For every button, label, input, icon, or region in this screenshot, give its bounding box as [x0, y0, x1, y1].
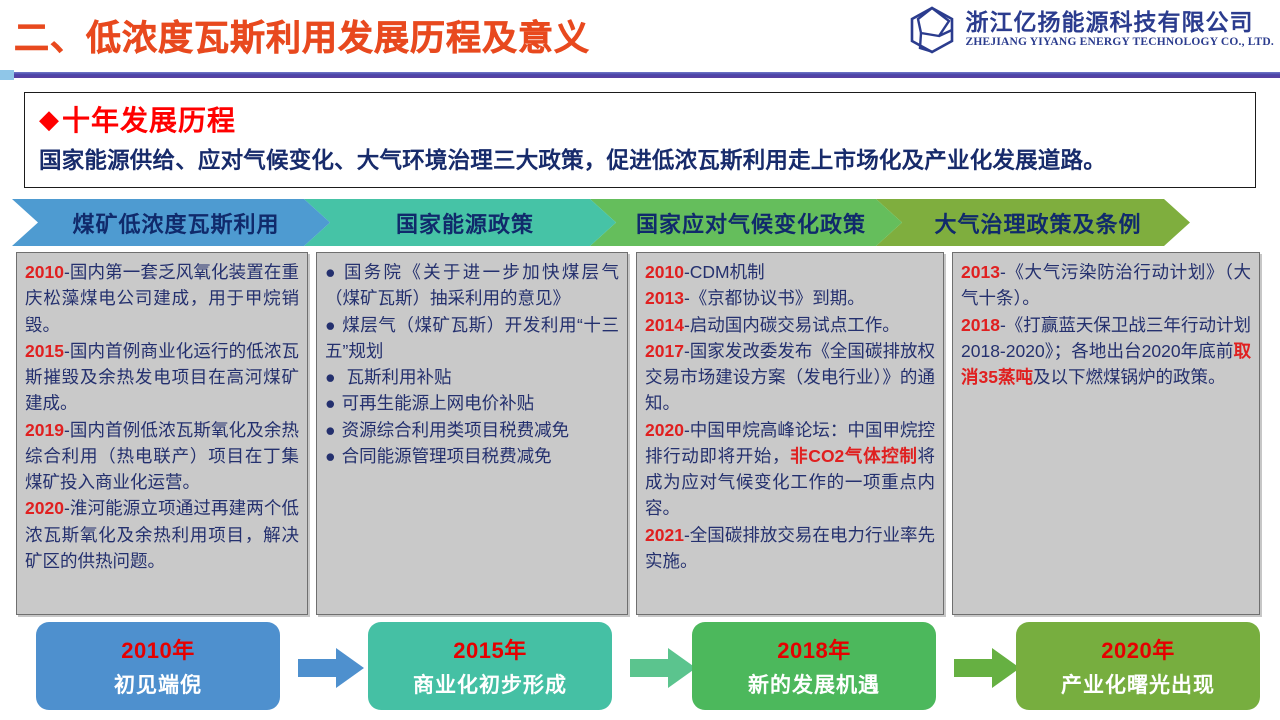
- item-year: 2010: [645, 262, 684, 282]
- intro-heading: ◆ 十年发展历程: [39, 99, 236, 139]
- timeline-box-1[interactable]: 2010年初见端倪: [36, 622, 280, 710]
- panel-item: 2018-《打赢蓝天保卫战三年行动计划2018-2020》；各地出台2020年底…: [961, 312, 1251, 391]
- panel-item: ●可再生能源上网电价补贴: [325, 390, 619, 416]
- panel-item: 2021-全国碳排放交易在电力行业率先实施。: [645, 522, 935, 575]
- item-text: -国家发改委发布《全国碳排放权交易市场建设方案（发电行业）》的通知。: [645, 341, 935, 414]
- chevron-step-1[interactable]: 煤矿低浓度瓦斯利用: [12, 199, 330, 246]
- item-year: 2013: [645, 288, 684, 308]
- chevron-label: 煤矿低浓度瓦斯利用: [62, 207, 279, 239]
- bullet-icon: ●: [325, 390, 342, 416]
- panel-climate-change-policy: 2010-CDM机制2013-《京都协议书》到期。2014-启动国内碳交易试点工…: [636, 252, 944, 615]
- chevron-label: 国家应对气候变化政策: [626, 207, 866, 239]
- company-name-cn: 浙江亿扬能源科技有限公司: [965, 10, 1274, 35]
- chevron-step-4[interactable]: 大气治理政策及条例: [876, 199, 1190, 246]
- content-panels: 2010-国内第一套乏风氧化装置在重庆松藻煤电公司建成，用于甲烷销毁。2015-…: [16, 252, 1264, 615]
- intro-subtitle: 国家能源供给、应对气候变化、大气环境治理三大政策，促进低浓瓦斯利用走上市场化及产…: [39, 143, 1106, 175]
- chevron-label: 国家能源政策: [386, 207, 534, 239]
- item-year: 2013: [961, 262, 1000, 282]
- item-text: -全国碳排放交易在电力行业率先实施。: [645, 525, 935, 571]
- item-text: -CDM机制: [684, 262, 765, 282]
- hexagon-cube-logo-icon: [909, 6, 955, 54]
- bullet-icon: ●: [325, 259, 342, 285]
- item-text: 煤层气（煤矿瓦斯）开发利用“十三五”规划: [325, 315, 619, 361]
- bullet-icon: ●: [325, 364, 342, 390]
- intro-box: ◆ 十年发展历程 国家能源供给、应对气候变化、大气环境治理三大政策，促进低浓瓦斯…: [24, 92, 1256, 188]
- timeline-year: 2010年: [121, 633, 194, 665]
- timeline-label: 新的发展机遇: [748, 669, 880, 699]
- panel-item: 2020-淮河能源立项通过再建两个低浓瓦斯氧化及余热利用项目，解决矿区的供热问题…: [25, 495, 299, 574]
- item-text: -国内第一套乏风氧化装置在重庆松藻煤电公司建成，用于甲烷销毁。: [25, 262, 299, 335]
- bullet-icon: ●: [325, 443, 342, 469]
- panel-item: 2010-国内第一套乏风氧化装置在重庆松藻煤电公司建成，用于甲烷销毁。: [25, 259, 299, 338]
- panel-national-energy-policy: ●国务院《关于进一步加快煤层气（煤矿瓦斯）抽采利用的意见》●煤层气（煤矿瓦斯）开…: [316, 252, 628, 615]
- chevron-category-bar: 煤矿低浓度瓦斯利用国家能源政策国家应对气候变化政策大气治理政策及条例: [12, 199, 1268, 246]
- timeline-label: 产业化曙光出现: [1061, 669, 1215, 699]
- item-text: -《大气污染防治行动计划》（大气十条）。: [961, 262, 1251, 308]
- company-name-en: ZHEJIANG YIYANG ENERGY TECHNOLOGY CO., L…: [965, 35, 1274, 50]
- panel-coal-mine-low-concentration-gas: 2010-国内第一套乏风氧化装置在重庆松藻煤电公司建成，用于甲烷销毁。2015-…: [16, 252, 308, 615]
- timeline-year: 2015年: [453, 633, 526, 665]
- panel-item: 2014-启动国内碳交易试点工作。: [645, 312, 935, 338]
- chevron-label: 大气治理政策及条例: [924, 207, 1141, 239]
- item-text: 可再生能源上网电价补贴: [342, 393, 535, 413]
- panel-item: ●国务院《关于进一步加快煤层气（煤矿瓦斯）抽采利用的意见》: [325, 259, 619, 312]
- page-title: 二、低浓度瓦斯利用发展历程及意义: [14, 10, 590, 61]
- panel-item: 2015-国内首例商业化运行的低浓瓦斯摧毁及余热发电项目在高河煤矿建成。: [25, 338, 299, 417]
- timeline-year: 2018年: [777, 633, 850, 665]
- timeline-box-4[interactable]: 2020年产业化曙光出现: [1016, 622, 1260, 710]
- logo-text-block: 浙江亿扬能源科技有限公司 ZHEJIANG YIYANG ENERGY TECH…: [965, 10, 1274, 50]
- item-year: 2019: [25, 420, 64, 440]
- panel-item: 2019-国内首例低浓瓦斯氧化及余热综合利用（热电联产）项目在丁集煤矿投入商业化…: [25, 417, 299, 496]
- timeline-year: 2020年: [1101, 633, 1174, 665]
- item-year: 2020: [25, 498, 64, 518]
- panel-item: 2013-《大气污染防治行动计划》（大气十条）。: [961, 259, 1251, 312]
- panel-air-treatment-policy: 2013-《大气污染防治行动计划》（大气十条）。2018-《打赢蓝天保卫战三年行…: [952, 252, 1260, 615]
- item-year: 2017: [645, 341, 684, 361]
- item-text: 资源综合利用类项目税费减免: [342, 420, 570, 440]
- item-year: 2015: [25, 341, 64, 361]
- diamond-bullet-icon: ◆: [39, 106, 60, 132]
- bullet-icon: ●: [325, 312, 342, 338]
- item-text: -启动国内碳交易试点工作。: [684, 315, 900, 335]
- item-year: 2010: [25, 262, 64, 282]
- item-text: -国内首例商业化运行的低浓瓦斯摧毁及余热发电项目在高河煤矿建成。: [25, 341, 299, 414]
- timeline-label: 初见端倪: [114, 669, 202, 699]
- panel-item: ●资源综合利用类项目税费减免: [325, 417, 619, 443]
- item-text: -淮河能源立项通过再建两个低浓瓦斯氧化及余热利用项目，解决矿区的供热问题。: [25, 498, 299, 571]
- slide-header: 二、低浓度瓦斯利用发展历程及意义 浙江亿扬能源科技有限公司 ZHEJIANG Y…: [0, 0, 1280, 74]
- timeline-box-2[interactable]: 2015年商业化初步形成: [368, 622, 612, 710]
- panel-item: ●煤层气（煤矿瓦斯）开发利用“十三五”规划: [325, 312, 619, 365]
- panel-item: 2013-《京都协议书》到期。: [645, 285, 935, 311]
- item-text: -国内首例低浓瓦斯氧化及余热综合利用（热电联产）项目在丁集煤矿投入商业化运营。: [25, 420, 299, 493]
- panel-item: 2017-国家发改委发布《全国碳排放权交易市场建设方案（发电行业）》的通知。: [645, 338, 935, 417]
- item-year: 2014: [645, 315, 684, 335]
- timeline-arrow-3-icon: [954, 648, 1020, 688]
- item-text: 国务院《关于进一步加快煤层气（煤矿瓦斯）抽采利用的意见》: [325, 262, 619, 308]
- intro-heading-label: 十年发展历程: [62, 99, 236, 139]
- chevron-step-3[interactable]: 国家应对气候变化政策: [590, 199, 902, 246]
- panel-item: ● 瓦斯利用补贴: [325, 364, 619, 390]
- title-divider-cap: [0, 70, 14, 80]
- item-year: 2018: [961, 315, 1000, 335]
- timeline-arrow-2-icon: [630, 648, 696, 688]
- item-text-after: 及以下燃煤锅炉的政策。: [1033, 367, 1226, 387]
- item-year: 2021: [645, 525, 684, 545]
- panel-item: 2020-中国甲烷高峰论坛：中国甲烷控排行动即将开始，非CO2气体控制将成为应对…: [645, 417, 935, 522]
- chevron-step-2[interactable]: 国家能源政策: [304, 199, 616, 246]
- timeline-label: 商业化初步形成: [413, 669, 567, 699]
- company-logo: 浙江亿扬能源科技有限公司 ZHEJIANG YIYANG ENERGY TECH…: [909, 6, 1274, 54]
- item-highlight: 非CO2气体控制: [790, 446, 917, 466]
- title-divider: [0, 72, 1280, 78]
- bullet-icon: ●: [325, 417, 342, 443]
- timeline-row: 2010年初见端倪2015年商业化初步形成2018年新的发展机遇2020年产业化…: [16, 622, 1264, 714]
- panel-item: 2010-CDM机制: [645, 259, 935, 285]
- item-text: -《京都协议书》到期。: [684, 288, 865, 308]
- item-text: 合同能源管理项目税费减免: [342, 446, 552, 466]
- timeline-box-3[interactable]: 2018年新的发展机遇: [692, 622, 936, 710]
- item-year: 2020: [645, 420, 684, 440]
- item-text: 瓦斯利用补贴: [342, 367, 452, 387]
- timeline-arrow-1-icon: [298, 648, 364, 688]
- panel-item: ●合同能源管理项目税费减免: [325, 443, 619, 469]
- item-text: -《打赢蓝天保卫战三年行动计划2018-2020》；各地出台2020年底前: [961, 315, 1251, 361]
